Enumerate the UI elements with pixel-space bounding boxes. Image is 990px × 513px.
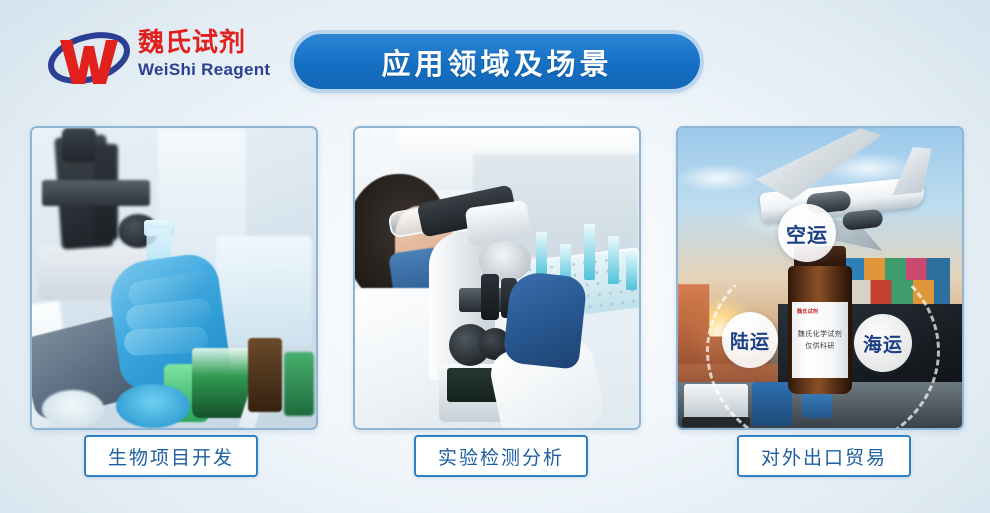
logo-chinese-name: 魏氏试剂 bbox=[138, 28, 288, 58]
caption-lab-analysis: 实验检测分析 bbox=[414, 435, 588, 477]
badge-sea-freight-label: 海运 bbox=[863, 330, 903, 357]
badge-land-freight: 陆运 bbox=[722, 312, 778, 368]
card-export-trade[interactable]: 魏氏试剂 魏氏化学试剂 仅供科研 空运 陆运 海运 bbox=[676, 126, 964, 430]
weishi-reagent-logo[interactable]: 魏氏试剂 WeiShi Reagent bbox=[46, 26, 271, 90]
caption-lab-analysis-label: 实验检测分析 bbox=[438, 443, 564, 470]
card-lab-analysis[interactable] bbox=[353, 126, 641, 430]
photo-lab-analysis bbox=[355, 128, 639, 428]
photo-bio-project bbox=[32, 128, 316, 428]
slide-root: 魏氏试剂 WeiShi Reagent 应用领域及场景 bbox=[0, 0, 990, 513]
reagent-bottle: 魏氏试剂 魏氏化学试剂 仅供科研 bbox=[788, 246, 852, 394]
logo-english-name: WeiShi Reagent bbox=[138, 59, 288, 81]
card-bio-project[interactable] bbox=[30, 126, 318, 430]
bottle-label-line-2: 仅供科研 bbox=[805, 341, 835, 351]
application-cards: 魏氏试剂 魏氏化学试剂 仅供科研 空运 陆运 海运 bbox=[0, 126, 990, 436]
badge-sea-freight: 海运 bbox=[854, 314, 912, 372]
w-swoosh-icon bbox=[46, 30, 132, 86]
logo-wordmark: 魏氏试剂 WeiShi Reagent bbox=[138, 28, 288, 81]
page-title-pill: 应用领域及场景 bbox=[294, 34, 700, 89]
badge-air-freight-label: 空运 bbox=[786, 219, 828, 248]
caption-export-trade: 对外出口贸易 bbox=[737, 435, 911, 477]
caption-export-trade-label: 对外出口贸易 bbox=[761, 443, 887, 470]
badge-land-freight-label: 陆运 bbox=[730, 327, 770, 354]
caption-bio-project: 生物项目开发 bbox=[84, 435, 258, 477]
bottle-brand-mark: 魏氏试剂 bbox=[797, 308, 818, 315]
bottle-label-line-1: 魏氏化学试剂 bbox=[798, 329, 842, 339]
page-title: 应用领域及场景 bbox=[381, 41, 612, 83]
badge-air-freight: 空运 bbox=[778, 204, 836, 262]
photo-export-trade: 魏氏试剂 魏氏化学试剂 仅供科研 空运 陆运 海运 bbox=[678, 128, 962, 428]
caption-bio-project-label: 生物项目开发 bbox=[108, 443, 234, 470]
